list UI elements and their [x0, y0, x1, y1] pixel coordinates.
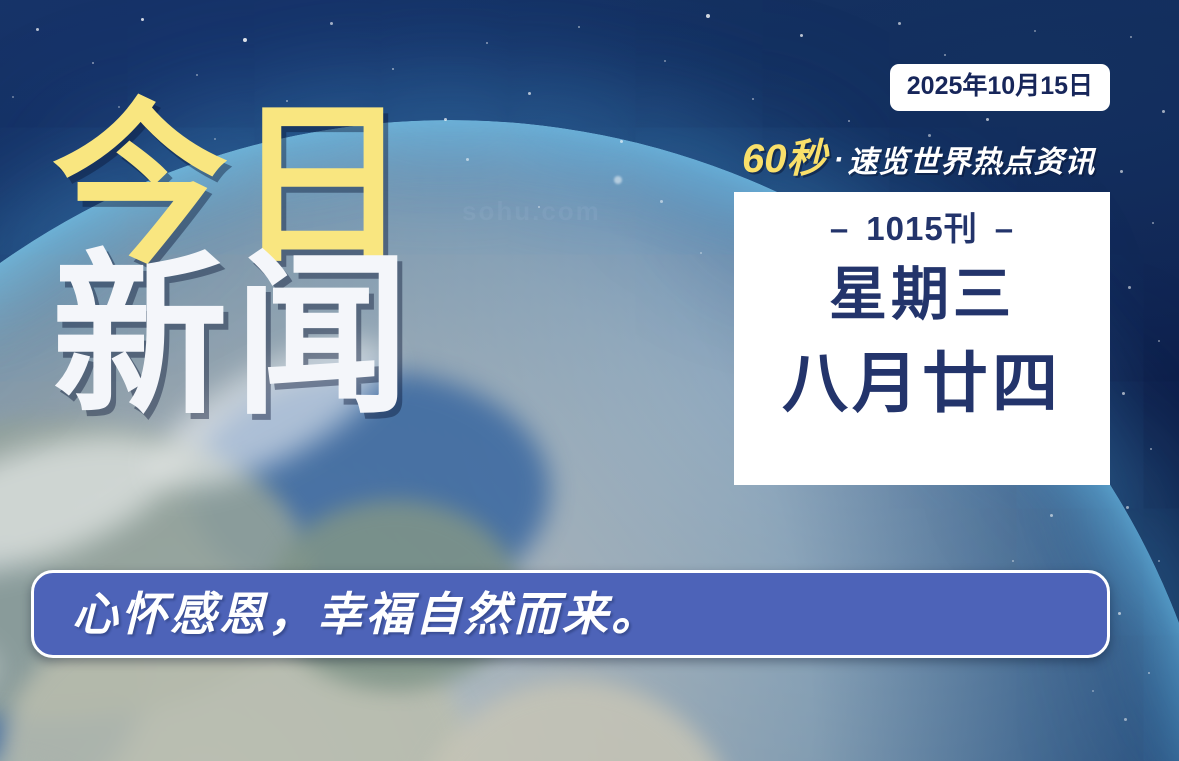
lunar-date-label: 八月廿四 — [734, 350, 1110, 416]
issue-dash-right: – — [995, 212, 1014, 245]
quote-text: 心怀感恩，幸福自然而来。 — [72, 591, 660, 637]
poster-title: 今日 新闻 — [52, 104, 416, 421]
date-info-card: –1015刊– 星期三 八月廿四 — [734, 192, 1110, 485]
tagline-description: 速览世界热点资讯 — [848, 146, 1096, 179]
issue-number: 1015刊 — [866, 210, 977, 247]
issue-number-row: –1015刊– — [734, 212, 1110, 245]
tagline: 60秒·速览世界热点资讯 — [742, 139, 1096, 179]
watermark-text: sohu.com — [462, 196, 601, 227]
title-line-news: 新闻 — [52, 255, 416, 420]
weekday-label: 星期三 — [734, 266, 1110, 324]
news-poster: sohu.com 2025年10月15日 今日 新闻 60秒·速览世界热点资讯 … — [0, 0, 1179, 761]
quote-bar: 心怀感恩，幸福自然而来。 — [31, 570, 1110, 658]
tagline-seconds: 60秒 — [742, 137, 827, 181]
tagline-separator: · — [834, 143, 844, 176]
date-badge: 2025年10月15日 — [890, 64, 1110, 111]
issue-dash-left: – — [830, 212, 849, 245]
